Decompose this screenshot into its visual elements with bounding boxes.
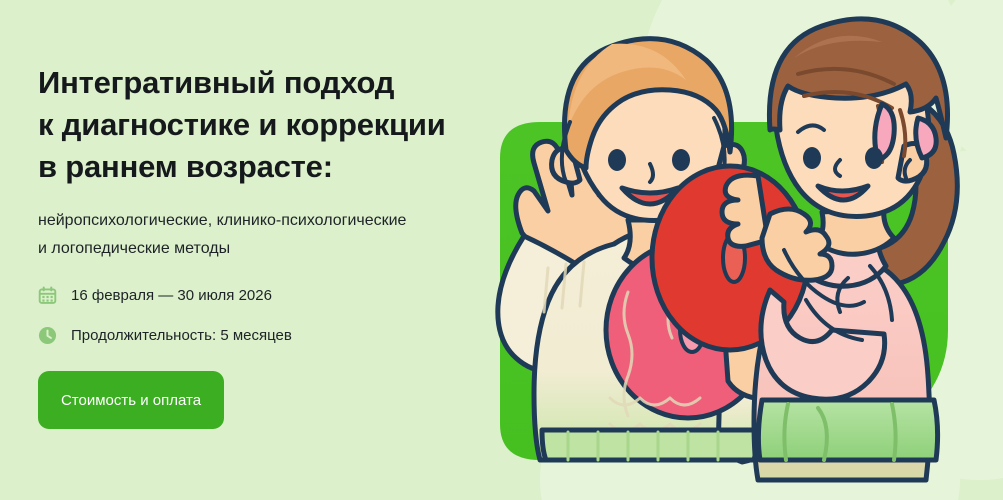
course-dates-text: 16 февраля — 30 июля 2026	[71, 286, 272, 305]
title-line-2: к диагностике и коррекции	[38, 107, 446, 142]
course-hero-banner: Интегративный подход к диагностике и кор…	[0, 0, 1003, 500]
page-title: Интегративный подход к диагностике и кор…	[38, 62, 508, 188]
title-line-1: Интегративный подход	[38, 65, 394, 100]
calendar-icon	[38, 286, 57, 305]
title-line-3: в раннем возрасте:	[38, 149, 333, 184]
hero-content: Интегративный подход к диагностике и кор…	[38, 0, 508, 500]
subtitle-line-2: и логопедические методы	[38, 240, 230, 257]
subtitle-line-1: нейропсихологические, клинико-психологич…	[38, 212, 406, 229]
clock-icon	[38, 326, 57, 345]
course-duration-row: Продолжительность: 5 месяцев	[38, 326, 292, 345]
pricing-and-payment-button[interactable]: Стоимость и оплата	[38, 371, 224, 429]
course-duration-text: Продолжительность: 5 месяцев	[71, 326, 292, 345]
course-dates-row: 16 февраля — 30 июля 2026	[38, 286, 272, 305]
hero-illustration	[462, 0, 1003, 500]
page-subtitle: нейропсихологические, клинико-психологич…	[38, 207, 498, 263]
